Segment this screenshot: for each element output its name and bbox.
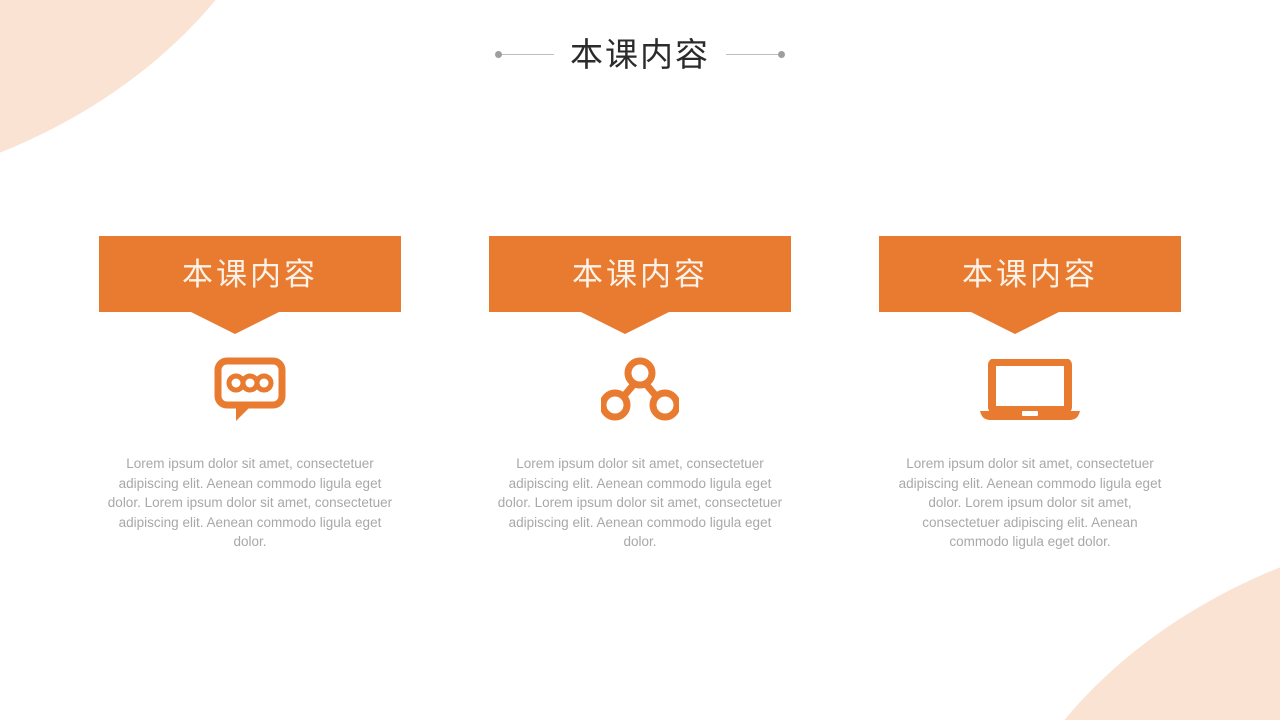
slide-canvas: 本课内容 本课内容 Lorem ipsum dolor sit — [0, 0, 1280, 720]
corner-decoration-top-left — [0, 0, 310, 200]
icon-slot-1 — [214, 352, 286, 428]
column-banner-1[interactable]: 本课内容 — [99, 236, 401, 312]
content-column-1: 本课内容 Lorem ipsum dolor sit amet, consect… — [55, 236, 445, 552]
banner-notch-1 — [191, 312, 279, 334]
column-body-3: Lorem ipsum dolor sit amet, consectetuer… — [891, 454, 1169, 552]
content-column-2: 本课内容 Lorem ipsum dolor sit amet, consect… — [445, 236, 835, 552]
banner-label-1: 本课内容 — [182, 259, 318, 290]
content-columns: 本课内容 Lorem ipsum dolor sit amet, consect… — [0, 236, 1280, 552]
icon-slot-2 — [601, 352, 679, 428]
title-decoration-right — [726, 51, 785, 58]
laptop-icon — [978, 359, 1082, 421]
column-banner-3[interactable]: 本课内容 — [879, 236, 1181, 312]
dot-icon-left — [495, 51, 502, 58]
title-decoration-left — [495, 51, 554, 58]
banner-notch-2 — [581, 312, 669, 334]
chat-bubble-ellipsis-icon — [214, 357, 286, 423]
column-banner-2[interactable]: 本课内容 — [489, 236, 791, 312]
banner-notch-3 — [971, 312, 1059, 334]
dot-icon-right — [778, 51, 785, 58]
slide-title-row: 本课内容 — [0, 38, 1280, 71]
banner-label-3: 本课内容 — [962, 259, 1098, 290]
share-network-icon — [601, 355, 679, 425]
content-column-3: 本课内容 Lorem ipsum dolor sit amet, consect… — [835, 236, 1225, 552]
line-icon-right — [726, 54, 778, 55]
page-title: 本课内容 — [570, 38, 710, 71]
line-icon-left — [502, 54, 554, 55]
icon-slot-3 — [978, 352, 1082, 428]
banner-label-2: 本课内容 — [572, 259, 708, 290]
column-body-1: Lorem ipsum dolor sit amet, consectetuer… — [106, 454, 394, 552]
column-body-2: Lorem ipsum dolor sit amet, consectetuer… — [496, 454, 784, 552]
